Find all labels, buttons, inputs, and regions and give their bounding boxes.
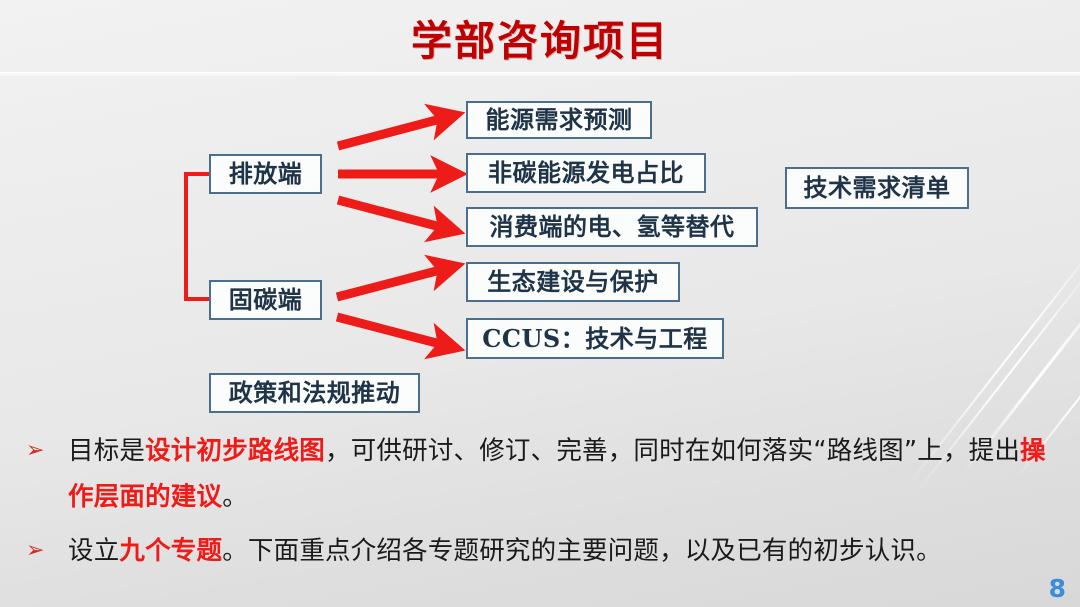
title-divider <box>0 72 1080 76</box>
arrow-emission-to-demand <box>338 117 448 146</box>
text-run: 目标是 <box>68 436 145 466</box>
page-number: 8 <box>1049 574 1066 603</box>
slide-canvas: 学部咨询项目 排放端 固碳端 政策和法规推动 能源需求预测 非碳能源发电占比 消… <box>0 0 1080 607</box>
arrow-emission-to-substitute <box>338 200 448 229</box>
node-noncarbon-power-share[interactable]: 非碳能源发电占比 <box>466 153 706 193</box>
bullet-text: 目标是设计初步路线图，可供研讨、修订、完善，同时在如何落实“路线图”上，提出操作… <box>68 436 1046 512</box>
highlighted-phrase: 九个专题 <box>119 536 222 566</box>
bracket-connector <box>184 172 211 301</box>
text-run: 。下面重点介绍各专题研究的主要问题，以及已有的初步认识。 <box>222 536 942 566</box>
bullet-arrow-icon: ➢ <box>26 528 45 574</box>
text-run: 设立 <box>68 536 119 566</box>
bullet-text: 设立九个专题。下面重点介绍各专题研究的主要问题，以及已有的初步认识。 <box>68 536 942 566</box>
highlighted-phrase: 设计初步路线图 <box>145 436 325 466</box>
node-emission-side[interactable]: 排放端 <box>209 154 322 194</box>
bullet-arrow-icon: ➢ <box>26 428 45 474</box>
arrow-carbon-to-ccus <box>337 317 448 346</box>
text-run: 。 <box>222 482 248 512</box>
bullet-list: ➢ 目标是设计初步路线图，可供研讨、修订、完善，同时在如何落实“路线图”上，提出… <box>22 428 1067 582</box>
page-title: 学部咨询项目 <box>0 7 1080 67</box>
title-band: 学部咨询项目 <box>0 0 1080 72</box>
list-item: ➢ 设立九个专题。下面重点介绍各专题研究的主要问题，以及已有的初步认识。 <box>22 528 1067 574</box>
node-consumption-electric-hydrogen[interactable]: 消费端的电、氢等替代 <box>466 207 758 247</box>
arrow-carbon-to-ecology <box>337 268 448 297</box>
node-policy-regulation[interactable]: 政策和法规推动 <box>209 373 420 413</box>
node-carbon-sink-side[interactable]: 固碳端 <box>209 280 322 320</box>
node-ecological-construction[interactable]: 生态建设与保护 <box>466 262 680 302</box>
node-energy-demand-forecast[interactable]: 能源需求预测 <box>466 101 652 139</box>
text-run: ，可供研讨、修订、完善，同时在如何落实“路线图”上，提出 <box>325 436 1020 466</box>
node-technology-requirement-list[interactable]: 技术需求清单 <box>785 167 969 209</box>
node-ccus-technology[interactable]: CCUS：技术与工程 <box>466 318 724 359</box>
list-item: ➢ 目标是设计初步路线图，可供研讨、修订、完善，同时在如何落实“路线图”上，提出… <box>22 428 1067 520</box>
